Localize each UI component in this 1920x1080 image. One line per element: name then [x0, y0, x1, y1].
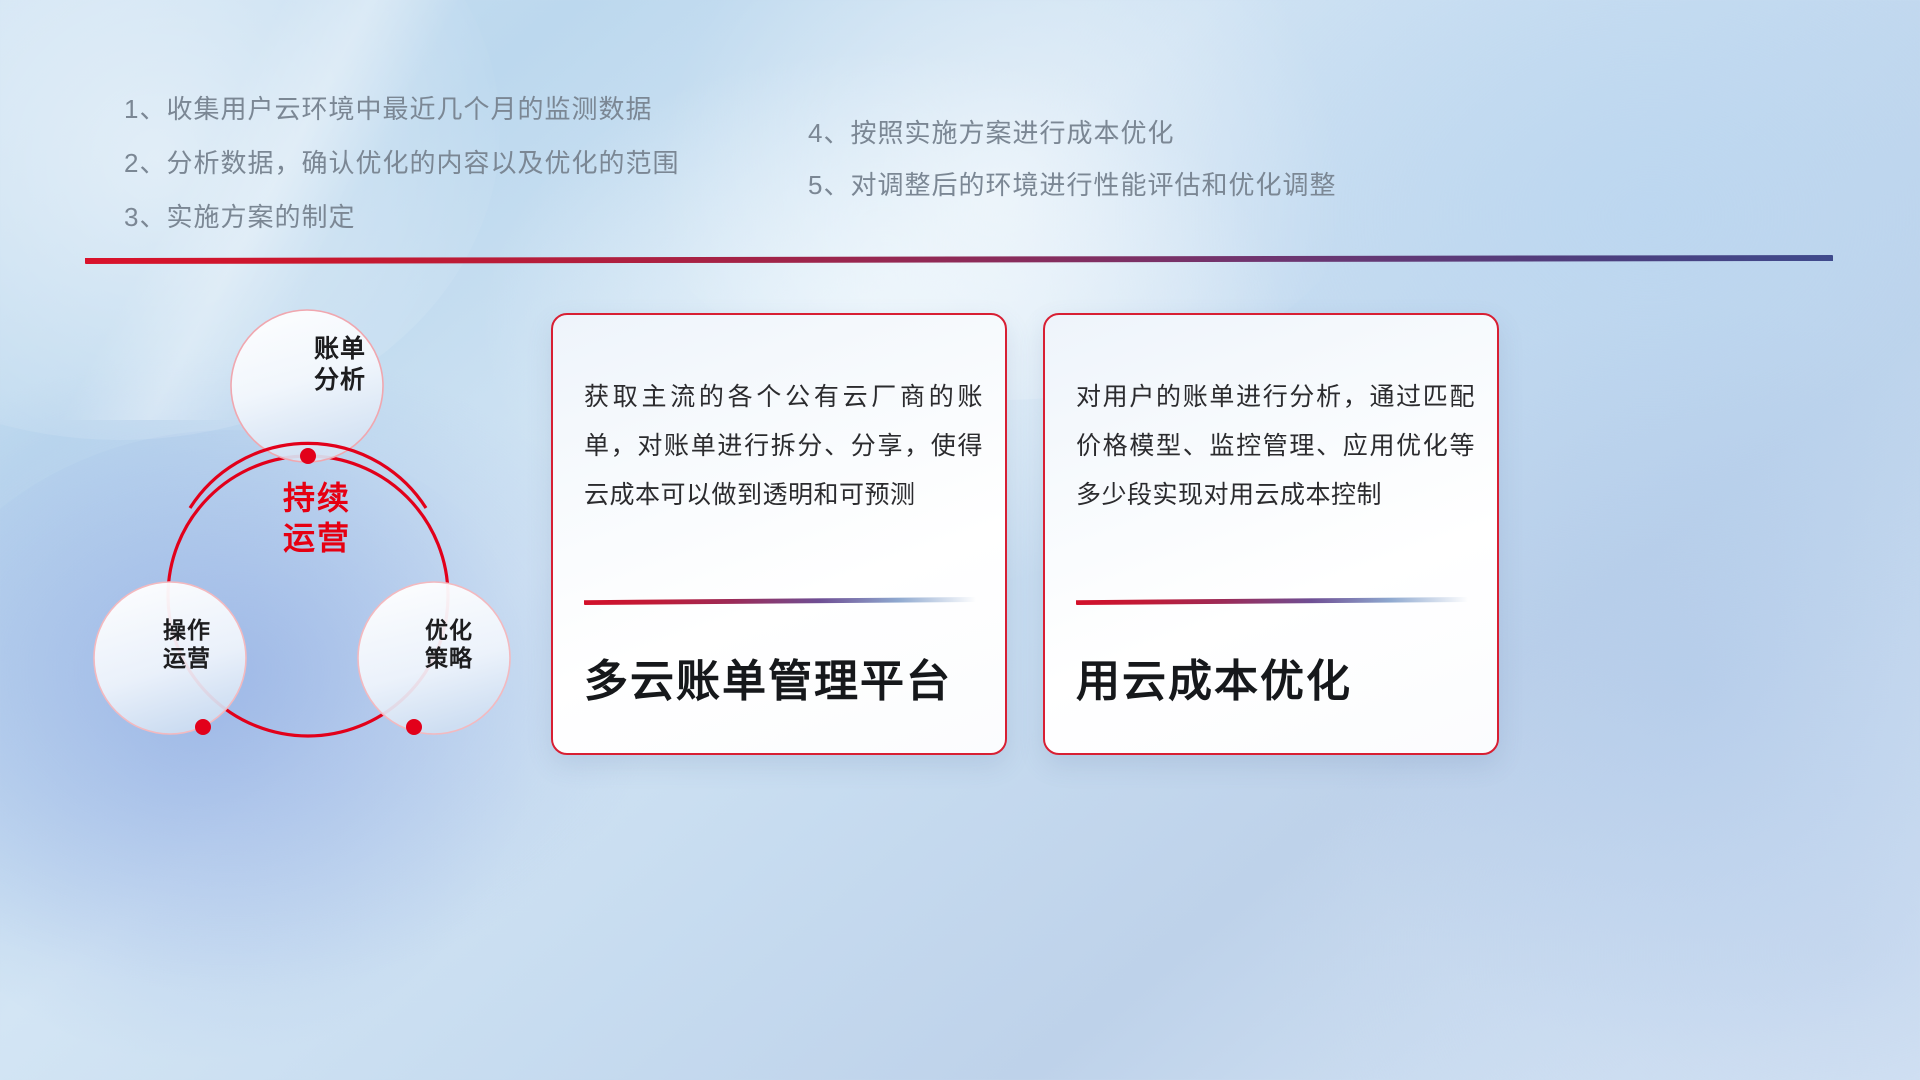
card-title: 多云账单管理平台	[584, 645, 985, 709]
venn-diagram: 账单 分析 持续 运营 操作 运营 优化 策略	[92, 286, 522, 766]
venn-label-center: 持续 运营	[242, 478, 392, 558]
step-item-5: 5、对调整后的环境进行性能评估和优化调整	[808, 172, 1448, 198]
card-accent-rule	[1076, 597, 1468, 605]
steps-left-column: 1、收集用户云环境中最近几个月的监测数据 2、分析数据，确认优化的内容以及优化的…	[124, 96, 824, 258]
venn-label-left-line1: 操作	[122, 616, 252, 644]
card-body-text: 对用户的账单进行分析，通过匹配价格模型、监控管理、应用优化等多少段实现对用云成本…	[1076, 373, 1475, 519]
venn-node-left	[195, 719, 211, 735]
venn-label-left-line2: 运营	[122, 644, 252, 672]
step-item-2: 2、分析数据，确认优化的内容以及优化的范围	[124, 150, 824, 176]
step-item-1: 1、收集用户云环境中最近几个月的监测数据	[124, 96, 824, 122]
venn-label-top-line1: 账单	[270, 334, 410, 365]
steps-right-column: 4、按照实施方案进行成本优化 5、对调整后的环境进行性能评估和优化调整	[808, 120, 1448, 224]
venn-node-right	[406, 719, 422, 735]
step-item-3: 3、实施方案的制定	[124, 204, 824, 230]
card-body-text: 获取主流的各个公有云厂商的账单，对账单进行拆分、分享，使得云成本可以做到透明和可…	[584, 373, 983, 519]
step-item-4: 4、按照实施方案进行成本优化	[808, 120, 1448, 146]
venn-label-right-line1: 优化	[384, 616, 514, 644]
venn-label-center-line2: 运营	[242, 518, 392, 558]
card-title: 用云成本优化	[1076, 645, 1477, 709]
venn-label-left: 操作 运营	[122, 616, 252, 672]
venn-label-center-line1: 持续	[242, 478, 392, 518]
venn-label-top-line2: 分析	[270, 365, 410, 396]
venn-label-right: 优化 策略	[384, 616, 514, 672]
info-card-multicloud-billing[interactable]: 获取主流的各个公有云厂商的账单，对账单进行拆分、分享，使得云成本可以做到透明和可…	[551, 313, 1007, 755]
venn-label-right-line2: 策略	[384, 644, 514, 672]
info-card-cost-optimization[interactable]: 对用户的账单进行分析，通过匹配价格模型、监控管理、应用优化等多少段实现对用云成本…	[1043, 313, 1499, 755]
card-accent-rule	[584, 597, 976, 605]
venn-label-top: 账单 分析	[270, 334, 410, 395]
venn-node-top	[300, 448, 316, 464]
